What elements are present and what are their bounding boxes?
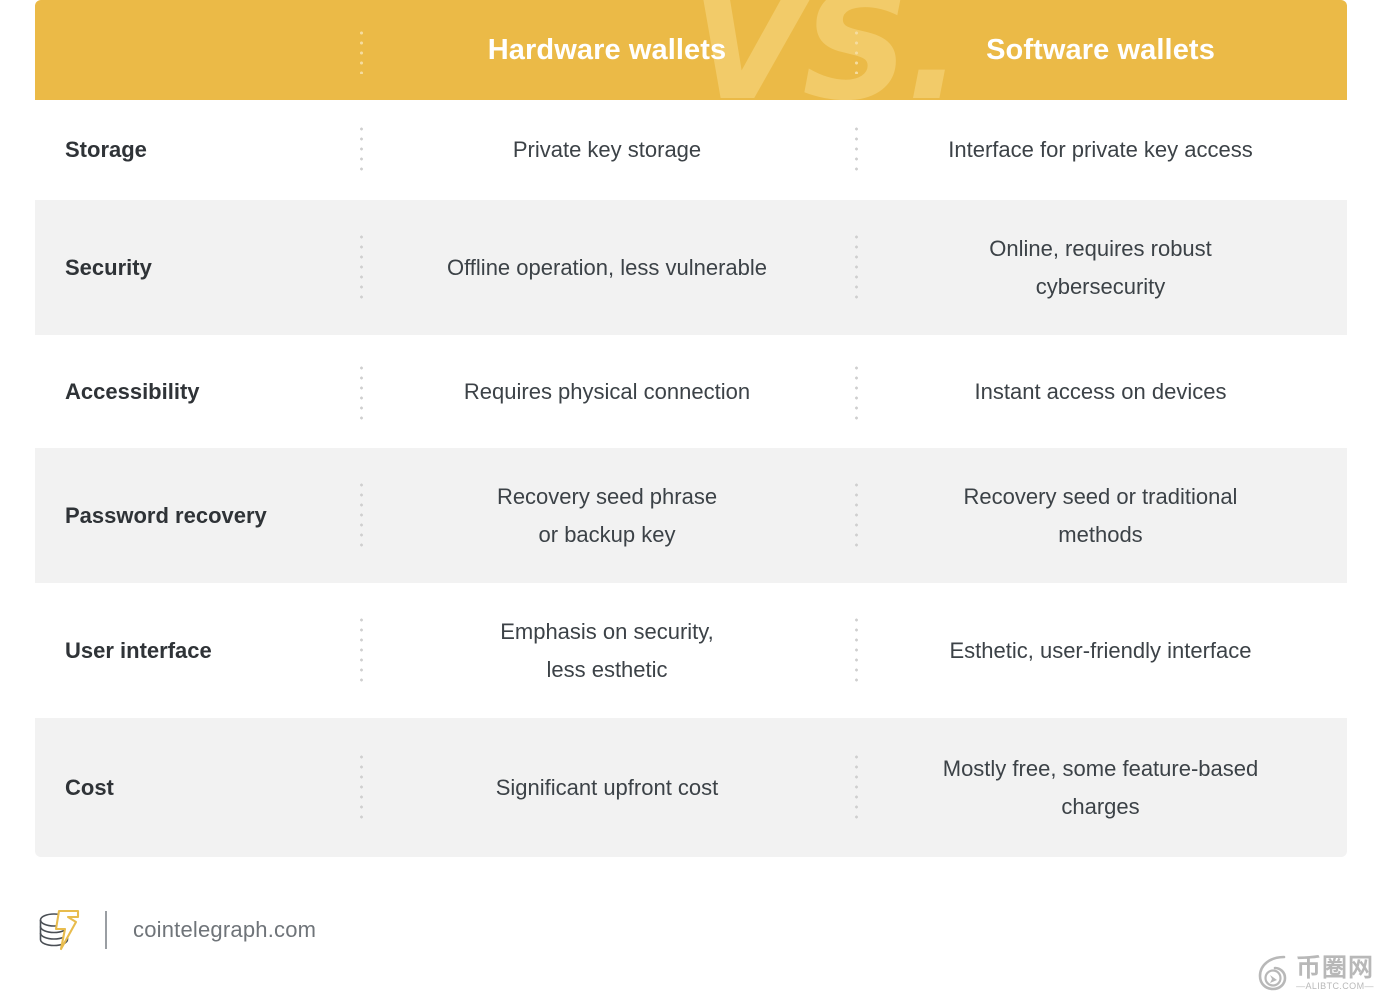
row-value-software: Mostly free, some feature-based charges [854, 750, 1347, 826]
table-header-row: VS. Hardware wallets Software wallets [35, 0, 1347, 100]
row-value-software: Interface for private key access [854, 131, 1347, 169]
site-watermark: 币圈网 —ALIBTC.COM— [1254, 952, 1374, 992]
row-value-hardware: Requires physical connection [360, 373, 854, 411]
header-cell-hardware-wallets: Hardware wallets [360, 34, 854, 67]
row-value-software: Recovery seed or traditional methods [854, 478, 1347, 554]
footer-url-label: cointelegraph.com [133, 917, 316, 943]
table-row: Cost Significant upfront cost Mostly fre… [35, 718, 1347, 857]
table-row: Password recovery Recovery seed phrase o… [35, 448, 1347, 583]
row-value-hardware: Recovery seed phrase or backup key [360, 478, 854, 554]
comparison-table: VS. Hardware wallets Software wallets St… [35, 0, 1347, 857]
watermark-en-label: —ALIBTC.COM— [1296, 981, 1374, 992]
header-cell-software-wallets: Software wallets [854, 34, 1347, 67]
row-value-software: Online, requires robust cybersecurity [854, 230, 1347, 306]
row-label: Security [35, 255, 360, 281]
watermark-text-group: 币圈网 —ALIBTC.COM— [1296, 954, 1374, 992]
row-value-software: Esthetic, user-friendly interface [854, 632, 1347, 670]
footer-divider [105, 911, 107, 949]
table-row: Accessibility Requires physical connecti… [35, 335, 1347, 448]
row-label: Cost [35, 775, 360, 801]
row-label: Password recovery [35, 503, 360, 529]
row-label: User interface [35, 638, 360, 664]
cointelegraph-coins-bolt-icon [35, 908, 83, 952]
row-value-hardware: Private key storage [360, 131, 854, 169]
row-value-hardware: Emphasis on security, less esthetic [360, 613, 854, 689]
row-value-hardware: Significant upfront cost [360, 769, 854, 807]
watermark-cn-label: 币圈网 [1296, 954, 1374, 981]
comparison-infographic: VS. Hardware wallets Software wallets St… [0, 0, 1382, 996]
row-value-hardware: Offline operation, less vulnerable [360, 249, 854, 287]
row-label: Storage [35, 137, 360, 163]
header-column-divider-2 [855, 28, 858, 74]
row-value-software: Instant access on devices [854, 373, 1347, 411]
alibtc-swirl-icon [1254, 952, 1294, 992]
footer-branding: cointelegraph.com [35, 900, 316, 960]
table-row: Storage Private key storage Interface fo… [35, 100, 1347, 200]
table-row: User interface Emphasis on security, les… [35, 583, 1347, 718]
row-label: Accessibility [35, 379, 360, 405]
table-row: Security Offline operation, less vulnera… [35, 200, 1347, 335]
header-column-divider-1 [360, 28, 363, 74]
